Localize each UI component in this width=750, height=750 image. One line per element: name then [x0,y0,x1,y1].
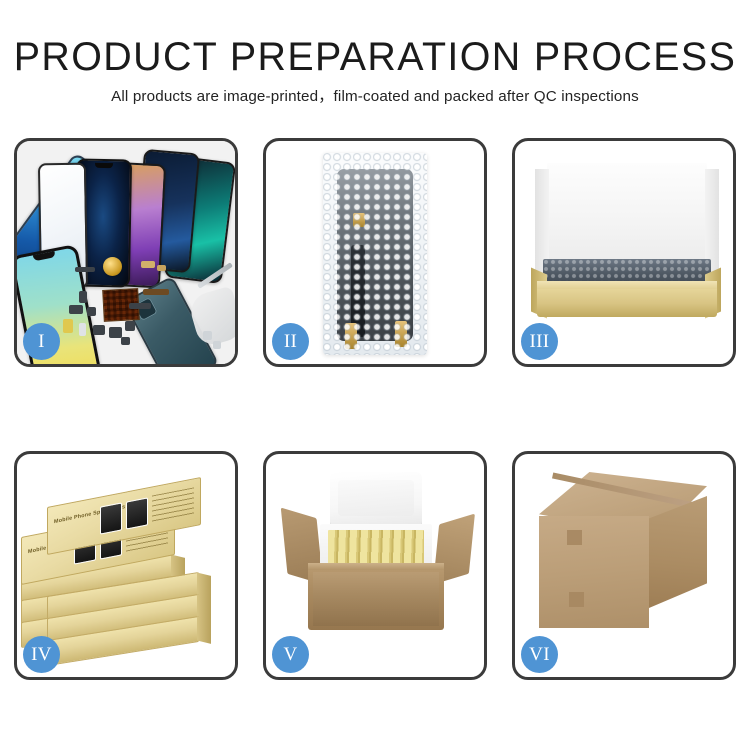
retail-box-stack: Mobile Phone Spare Parts Mobile Phone Sp… [21,474,231,664]
small-part [109,327,122,338]
wrapped-display [337,169,413,341]
tape-mark [567,530,582,545]
process-step-5: V [263,451,487,680]
small-part [93,325,105,335]
small-part [87,307,96,316]
small-part [79,323,86,336]
small-part [129,303,151,309]
box-window-preview [126,497,148,529]
small-part [63,319,73,333]
page-title: PRODUCT PREPARATION PROCESS [6,34,745,80]
flex-cable-part [143,289,169,295]
box-front-panel [537,287,717,317]
product-preparation-infographic: PRODUCT PREPARATION PROCESS All products… [0,0,750,750]
step-number-badge: VI [521,636,558,673]
step-number-badge: II [272,323,309,360]
screw-part [203,331,212,340]
small-part [121,337,130,345]
step-number-badge: V [272,636,309,673]
screw-part [213,341,221,349]
small-part [75,267,95,272]
step-number-badge: IV [23,636,60,673]
step-number-badge: III [521,323,558,360]
gold-tape-tab [345,323,357,349]
small-part [157,265,166,271]
process-step-6: VI [512,451,736,680]
process-step-2: II [263,138,487,367]
box-spec-lines [152,487,194,523]
carton-front-face [539,516,649,628]
page-subtitle: All products are image-printed，film-coat… [0,87,750,107]
tape-mark [569,592,584,607]
small-part [79,291,87,303]
sealed-shipping-carton [529,472,725,652]
gold-tape-tab [353,213,365,227]
carton-body [308,568,444,630]
step-number-badge: I [23,323,60,360]
small-part [141,261,155,268]
process-step-grid: I II [14,138,736,680]
process-step-1: I [14,138,238,367]
gold-tape-tab [395,321,407,347]
process-step-4: Mobile Phone Spare Parts Mobile Phone Sp… [14,451,238,680]
open-shipping-carton [282,472,472,662]
small-part [125,321,135,331]
box-window-preview [100,502,122,534]
gold-coil-part [103,257,122,276]
foam-box-lid [330,472,422,530]
header: PRODUCT PREPARATION PROCESS All products… [0,34,750,107]
small-part [69,305,83,314]
bubble-wrap-bag [323,153,427,355]
process-step-3: III [512,138,736,367]
open-retail-box [533,163,719,331]
